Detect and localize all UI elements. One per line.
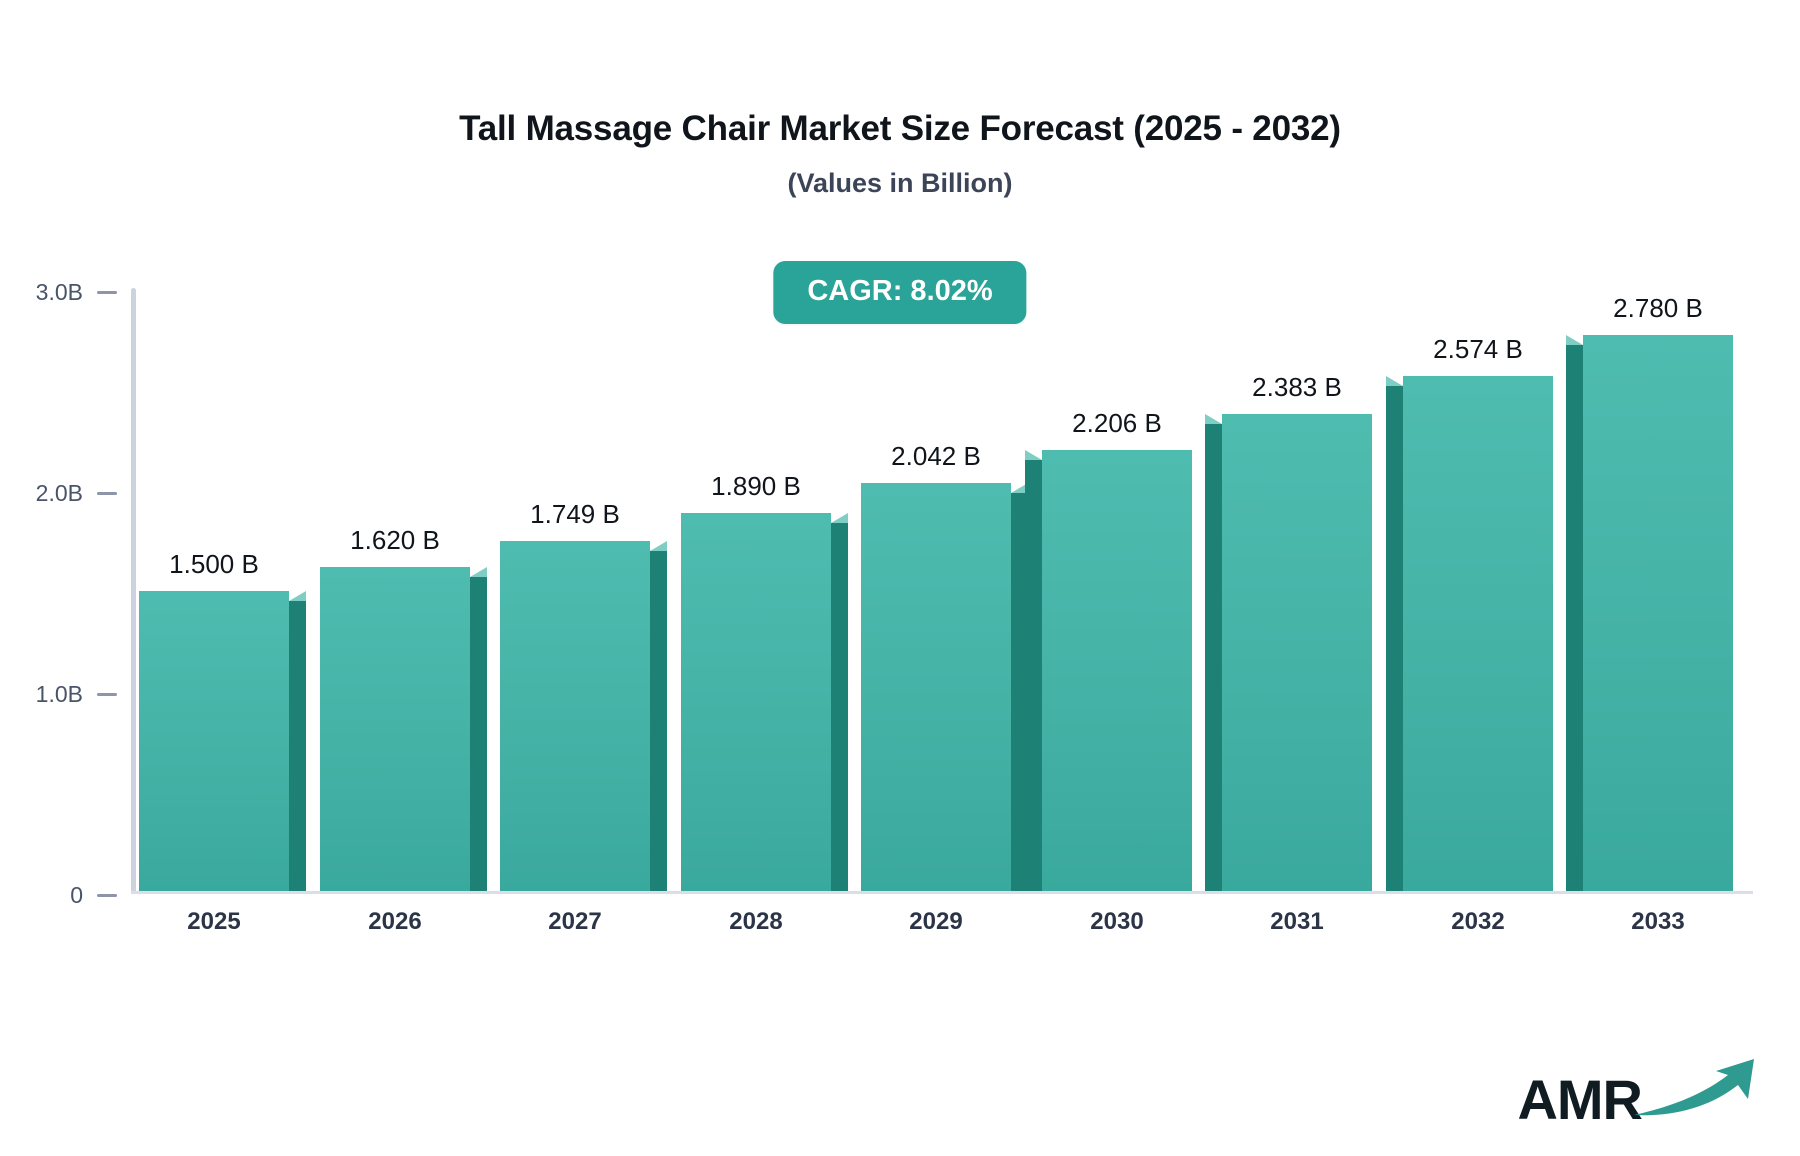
bar-group[interactable]: 2.574 B <box>1403 376 1553 891</box>
bar-group[interactable]: 1.620 B <box>320 567 470 891</box>
bar-front-face <box>139 591 289 891</box>
amr-logo-text: AMR <box>1517 1072 1642 1128</box>
bar-front-face <box>1042 450 1192 891</box>
bars-layer: 1.500 B1.620 B1.749 B1.890 B2.042 B2.206… <box>0 0 1800 1000</box>
bar-value-label: 2.383 B <box>1222 372 1372 403</box>
bar-value-label: 1.749 B <box>500 499 650 530</box>
bar-value-label: 1.890 B <box>681 471 831 502</box>
bar-value-label: 2.574 B <box>1403 334 1553 365</box>
x-axis-category-label: 2029 <box>861 908 1011 936</box>
bar[interactable] <box>861 483 1011 891</box>
bar-side-face <box>470 577 487 891</box>
bar[interactable] <box>1222 414 1372 891</box>
bar-group[interactable]: 1.749 B <box>500 541 650 891</box>
bar-group[interactable]: 1.890 B <box>681 513 831 891</box>
amr-logo: AMR <box>1517 1057 1762 1128</box>
bar-top-face <box>831 513 848 523</box>
bar-value-label: 1.620 B <box>320 525 470 556</box>
x-axis-category-label: 2025 <box>139 908 289 936</box>
bar-front-face <box>1222 414 1372 891</box>
bar[interactable] <box>320 567 470 891</box>
bar-front-face <box>320 567 470 891</box>
x-axis-category-label: 2032 <box>1403 908 1553 936</box>
chart-plot-area: 3.0B 2.0B 1.0B 0 1.500 B1.620 B1.749 B1.… <box>0 0 1800 1000</box>
bar-group[interactable]: 2.383 B <box>1222 414 1372 891</box>
bar[interactable] <box>1583 335 1733 891</box>
bar-value-label: 1.500 B <box>139 549 289 580</box>
trending-up-arrow-icon <box>1632 1057 1762 1124</box>
bar-front-face <box>861 483 1011 891</box>
bar-group[interactable]: 1.500 B <box>139 591 289 891</box>
bar-top-face <box>470 567 487 577</box>
bar-top-face <box>1025 450 1042 460</box>
bar-side-face <box>289 601 306 891</box>
bar-side-face <box>650 551 667 891</box>
bar-side-face <box>1205 424 1222 891</box>
bar-top-face <box>1205 414 1222 424</box>
bar-front-face <box>681 513 831 891</box>
x-axis-category-label: 2033 <box>1583 908 1733 936</box>
bar-front-face <box>1583 335 1733 891</box>
bar-top-face <box>289 591 306 601</box>
bar-group[interactable]: 2.042 B <box>861 483 1011 891</box>
x-axis-category-label: 2027 <box>500 908 650 936</box>
bar[interactable] <box>500 541 650 891</box>
x-axis-category-label: 2026 <box>320 908 470 936</box>
bar-top-face <box>1386 376 1403 386</box>
x-axis-category-label: 2031 <box>1222 908 1372 936</box>
x-axis-category-label: 2028 <box>681 908 831 936</box>
bar-front-face <box>500 541 650 891</box>
bar[interactable] <box>681 513 831 891</box>
bar-value-label: 2.042 B <box>861 441 1011 472</box>
bar-side-face <box>1386 386 1403 891</box>
bar-value-label: 2.206 B <box>1042 408 1192 439</box>
bar[interactable] <box>1042 450 1192 891</box>
bar-side-face <box>1025 460 1042 891</box>
bar[interactable] <box>139 591 289 891</box>
bar-side-face <box>831 523 848 891</box>
bar-value-label: 2.780 B <box>1583 293 1733 324</box>
bar-top-face <box>650 541 667 551</box>
bar-side-face <box>1566 345 1583 891</box>
bar-top-face <box>1566 335 1583 345</box>
bar[interactable] <box>1403 376 1553 891</box>
bar-group[interactable]: 2.780 B <box>1583 335 1733 891</box>
bar-group[interactable]: 2.206 B <box>1042 450 1192 891</box>
bar-front-face <box>1403 376 1553 891</box>
x-axis-category-label: 2030 <box>1042 908 1192 936</box>
